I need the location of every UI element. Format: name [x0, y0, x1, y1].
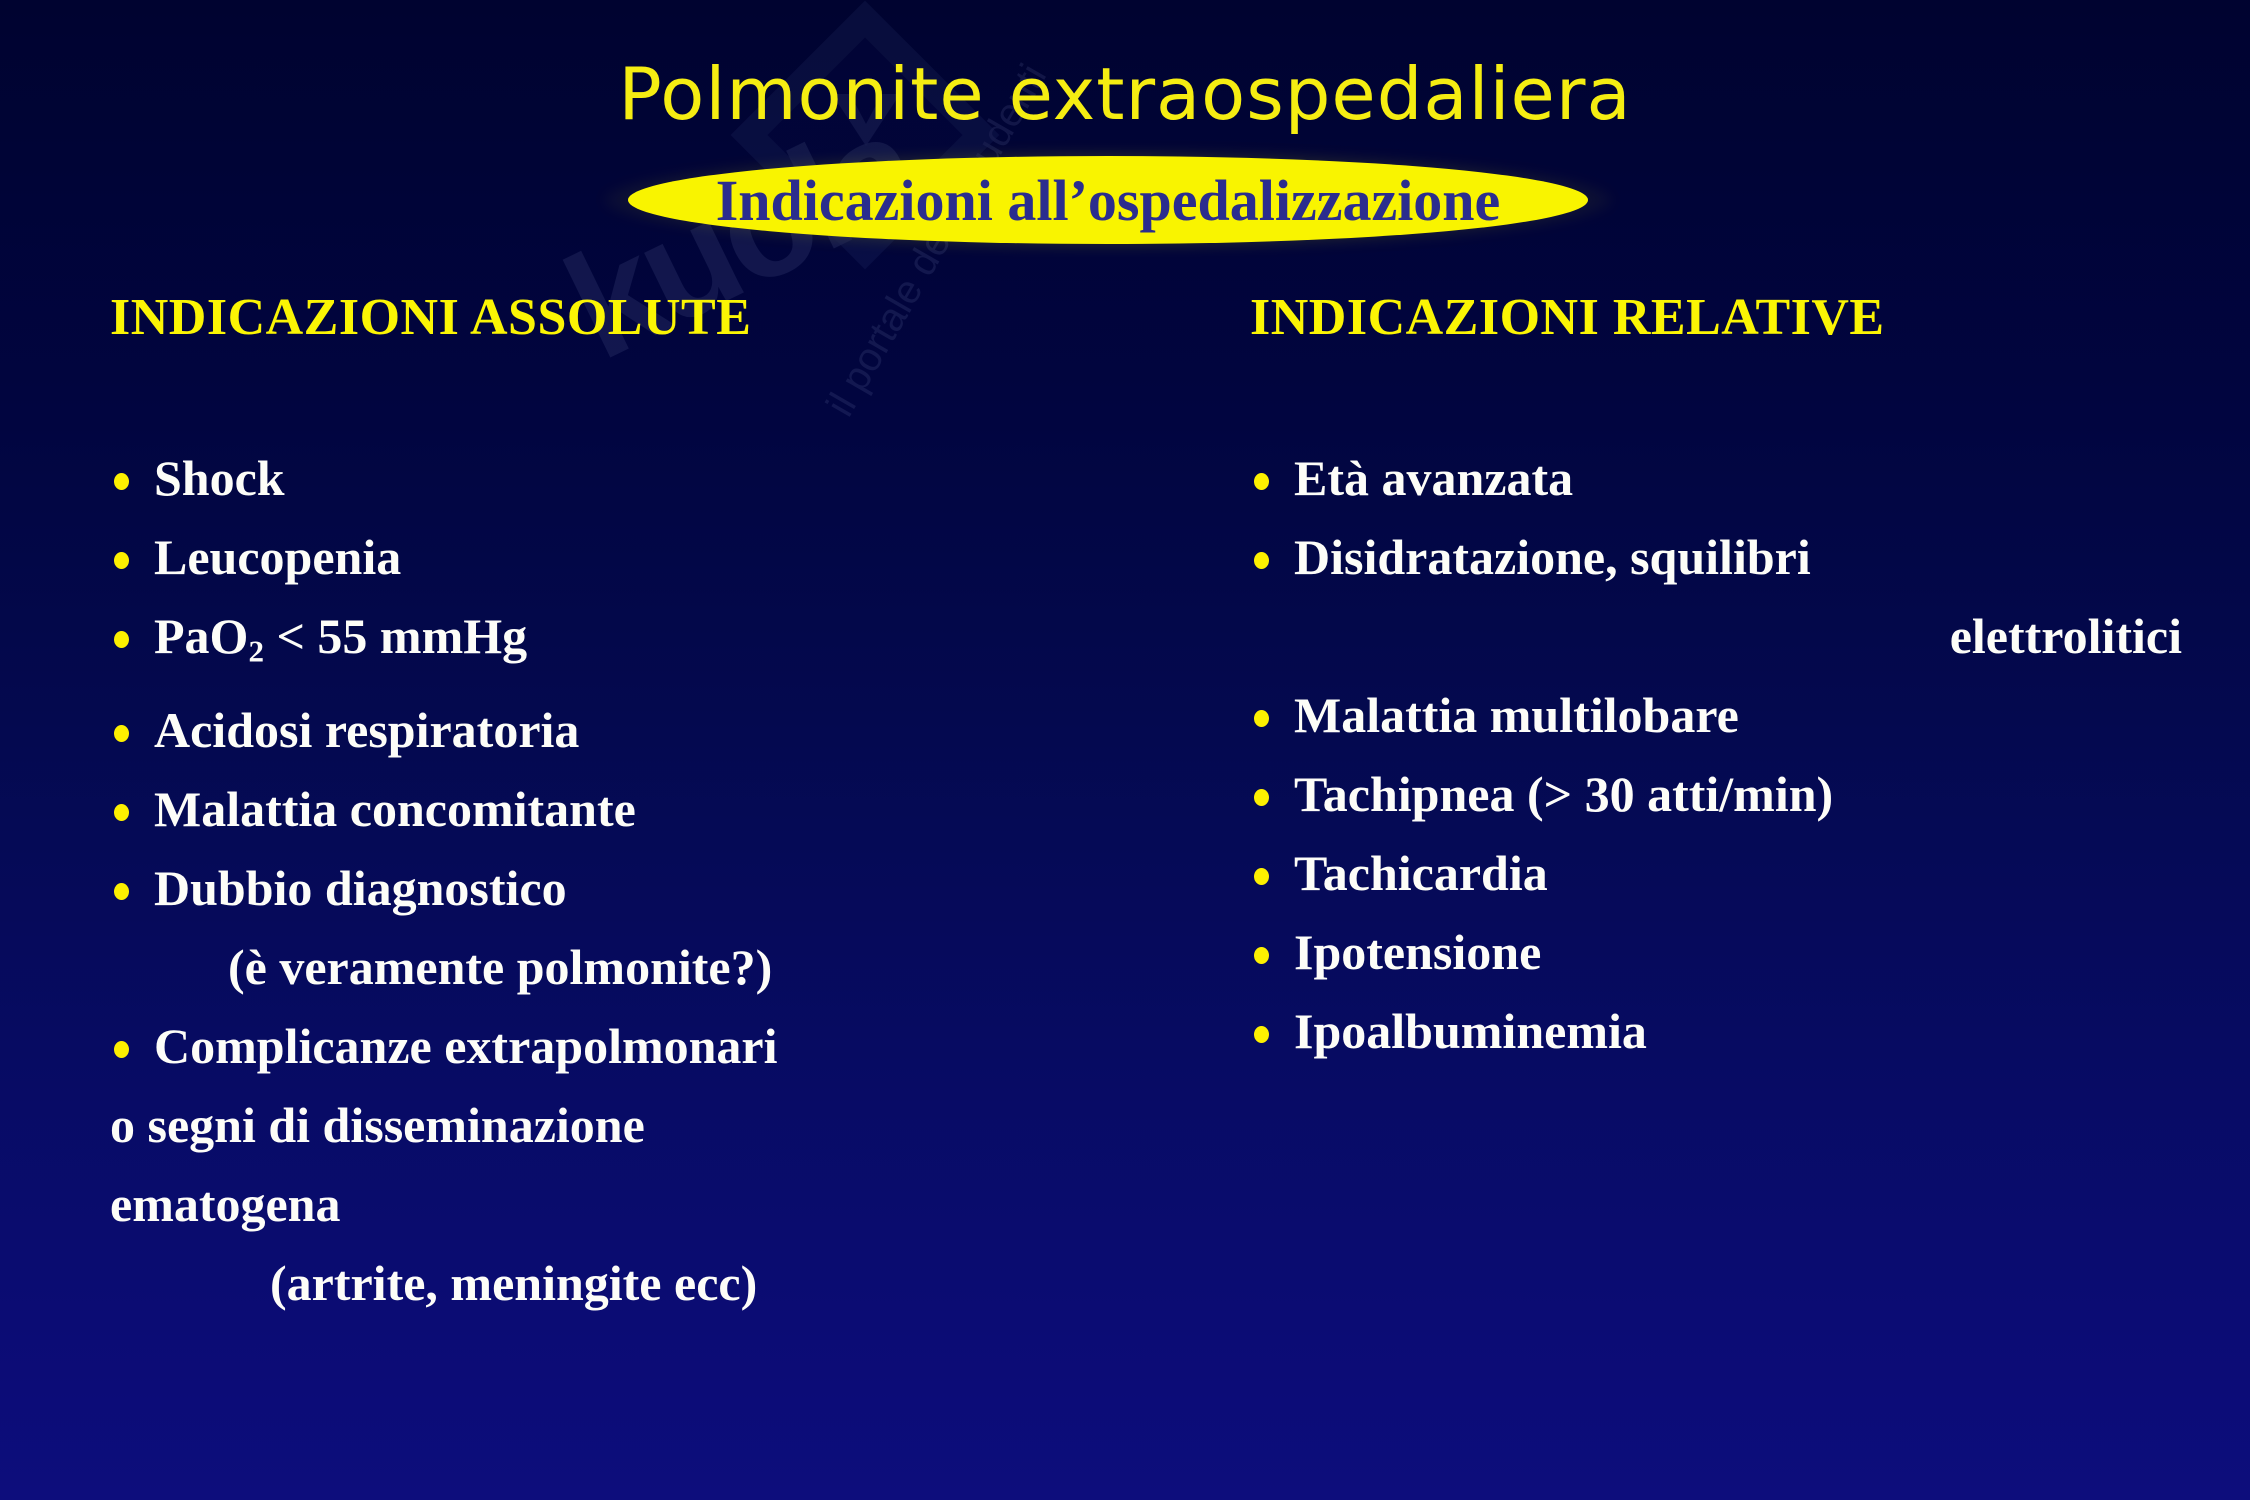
list-item: ematogena — [110, 1165, 1010, 1244]
bullet-dot-icon — [114, 725, 129, 742]
list-item-label: Ipotensione — [1294, 924, 1541, 980]
list-item-label: Shock — [154, 450, 285, 506]
bullet-dot-icon — [114, 631, 129, 648]
list-item: Malattia concomitante — [110, 770, 1010, 849]
list-item: Ipotensione — [1250, 913, 2200, 992]
list-item-label: Dubbio diagnostico — [154, 860, 567, 916]
list-item-label: Ipoalbuminemia — [1294, 1003, 1647, 1059]
column-absolute-indications: INDICAZIONI ASSOLUTE ShockLeucopeniaPaO2… — [110, 288, 1010, 1323]
banner-label: Indicazioni all’ospedalizzazione — [603, 150, 1613, 250]
list-item-label: Acidosi respiratoria — [154, 702, 579, 758]
subscript-value: 2 — [248, 634, 264, 669]
list-item: Complicanze extrapolmonari — [110, 1007, 1010, 1086]
list-item: Tachipnea (> 30 atti/min) — [1250, 755, 2200, 834]
list-item: (è veramente polmonite?) — [110, 928, 1010, 1007]
list-item-label: Tachipnea (> 30 atti/min) — [1294, 766, 1833, 822]
list-item-label: Età avanzata — [1294, 450, 1573, 506]
list-item-label: Leucopenia — [154, 529, 401, 585]
column-heading-right: INDICAZIONI RELATIVE — [1250, 288, 2200, 347]
list-item-label: (è veramente polmonite?) — [228, 939, 772, 995]
list-item-label: Malattia concomitante — [154, 781, 636, 837]
list-item-label: o segni di disseminazione — [110, 1097, 645, 1153]
list-item-label: elettrolitici — [1950, 608, 2182, 664]
list-item: Disidratazione, squilibri — [1250, 518, 2200, 597]
list-relative-indications: Età avanzataDisidratazione, squilibriele… — [1250, 439, 2200, 1071]
column-relative-indications: INDICAZIONI RELATIVE Età avanzataDisidra… — [1250, 288, 2200, 1071]
list-item: o segni di disseminazione — [110, 1086, 1010, 1165]
list-item: Tachicardia — [1250, 834, 2200, 913]
list-item-label: (artrite, meningite ecc) — [270, 1255, 757, 1311]
list-item: Età avanzata — [1250, 439, 2200, 518]
bullet-dot-icon — [1254, 789, 1269, 806]
bullet-dot-icon — [1254, 1026, 1269, 1043]
list-absolute-indications: ShockLeucopeniaPaO2 < 55 mmHgAcidosi res… — [110, 439, 1010, 1323]
bullet-dot-icon — [114, 883, 129, 900]
list-item-label: ematogena — [110, 1176, 341, 1232]
list-item-label: Malattia multilobare — [1294, 687, 1739, 743]
banner-ellipse: Indicazioni all’ospedalizzazione — [603, 150, 1613, 250]
list-item-label: Complicanze extrapolmonari — [154, 1018, 778, 1074]
list-item: Acidosi respiratoria — [110, 691, 1010, 770]
bullet-dot-icon — [114, 804, 129, 821]
list-item-label: PaO2 < 55 mmHg — [154, 608, 527, 664]
list-item: Malattia multilobare — [1250, 676, 2200, 755]
column-heading-left: INDICAZIONI ASSOLUTE — [110, 288, 1010, 347]
list-item: elettrolitici — [1250, 597, 2200, 676]
bullet-dot-icon — [114, 1041, 129, 1058]
bullet-dot-icon — [1254, 552, 1269, 569]
list-item: Leucopenia — [110, 518, 1010, 597]
bullet-dot-icon — [1254, 710, 1269, 727]
list-item-label: Disidratazione, squilibri — [1294, 529, 1811, 585]
slide-canvas: kuola il portale degli studenti Polmonit… — [0, 0, 2250, 1500]
list-item: Dubbio diagnostico — [110, 849, 1010, 928]
bullet-dot-icon — [1254, 868, 1269, 885]
bullet-dot-icon — [1254, 473, 1269, 490]
slide-title: Polmonite extraospedaliera — [0, 52, 2250, 136]
bullet-dot-icon — [114, 552, 129, 569]
list-item: (artrite, meningite ecc) — [110, 1244, 1010, 1323]
list-item: Shock — [110, 439, 1010, 518]
list-item: PaO2 < 55 mmHg — [110, 597, 1010, 691]
list-item: Ipoalbuminemia — [1250, 992, 2200, 1071]
bullet-dot-icon — [1254, 947, 1269, 964]
list-item-label: Tachicardia — [1294, 845, 1548, 901]
bullet-dot-icon — [114, 473, 129, 490]
